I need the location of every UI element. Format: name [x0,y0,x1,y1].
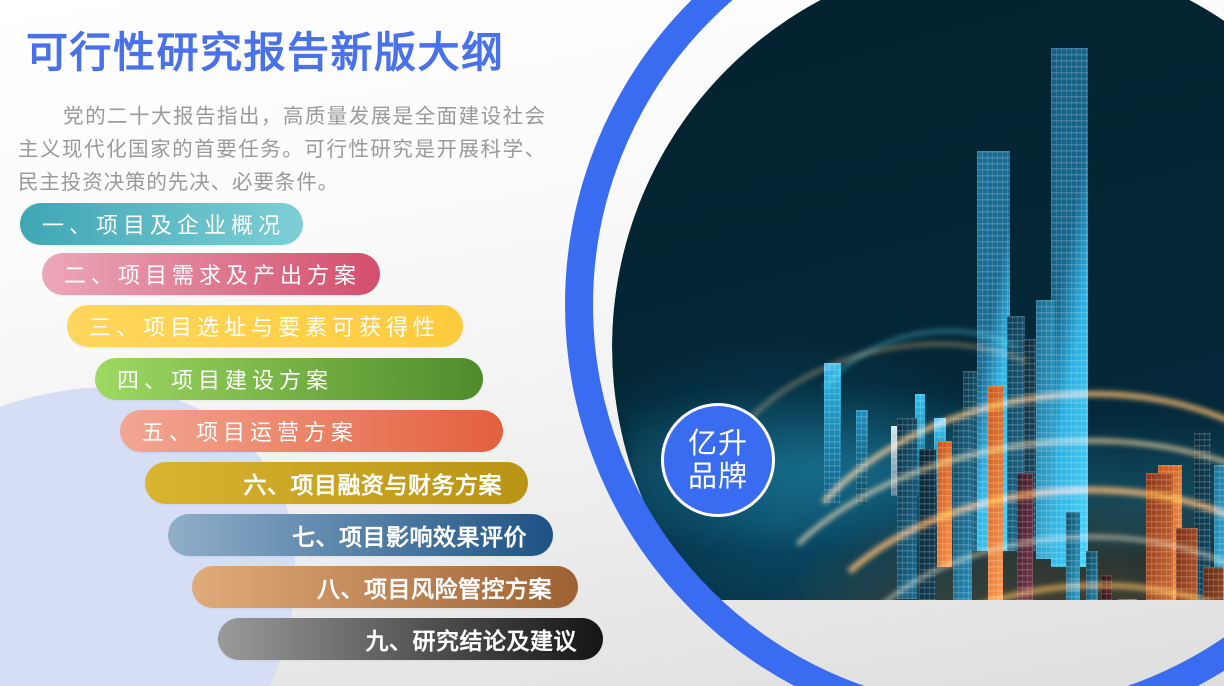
night-city-scene [612,0,1224,686]
intro-paragraph: 党的二十大报告指出，高质量发展是全面建设社会主义现代化国家的首要任务。可行性研究… [18,100,546,200]
outline-item-5[interactable]: 五、项目运营方案 [120,410,503,452]
outline-item-2[interactable]: 二、项目需求及产出方案 [42,253,380,295]
outline-item-3[interactable]: 三、项目选址与要素可获得性 [67,305,463,347]
outline-item-9[interactable]: 九、研究结论及建议 [218,618,603,660]
brand-line-2: 品牌 [688,461,748,492]
outline-item-8[interactable]: 八、项目风险管控方案 [192,566,578,608]
outline-item-6[interactable]: 六、项目融资与财务方案 [145,462,528,504]
city-photo-disc [612,0,1224,686]
brand-badge: 亿升 品牌 [661,403,775,517]
brand-line-1: 亿升 [688,428,748,459]
slide-canvas: 亿升 品牌 可行性研究报告新版大纲 党的二十大报告指出，高质量发展是全面建设社会… [0,0,1224,686]
outline-item-7[interactable]: 七、项目影响效果评价 [168,514,553,556]
page-title: 可行性研究报告新版大纲 [26,28,586,78]
outline-item-4[interactable]: 四、项目建设方案 [95,358,483,400]
city-photo-clip [612,0,1224,686]
outline-item-1[interactable]: 一、项目及企业概况 [20,203,303,245]
blue-ring-decoration [565,0,1224,686]
